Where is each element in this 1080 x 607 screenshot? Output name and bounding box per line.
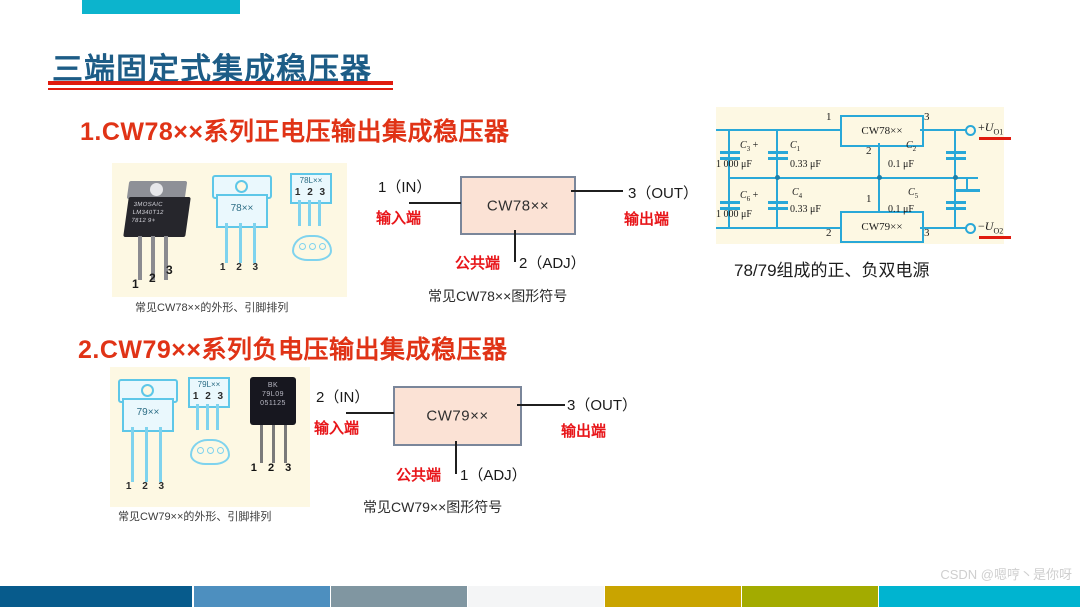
cw78-term-out-label: 输出端 [624,208,669,229]
title-underline-thin [48,88,393,90]
black-part-pins: 1 2 3 [250,462,296,474]
circuit-c2-plate-top [946,151,966,154]
cw79-term-in-label: 输入端 [314,417,359,438]
cw78-photo-caption: 常见CW78××的外形、引脚排列 [135,299,288,315]
csdn-watermark: CSDN @嗯哼丶是你呀 [940,564,1072,583]
to220-outline-pins: 1 2 3 [217,262,265,273]
circuit-cw78-pin-in: 1 [826,111,832,123]
cw78-term-in-label: 输入端 [376,207,421,228]
bottom-color-bars [0,586,1080,607]
circuit-c3-value: 1 000 μF [716,159,752,170]
black-part-body: BK79L09051125 [250,377,296,425]
circuit-c6-plate-top [720,201,740,204]
circuit-node-left [775,175,780,180]
to220-outline-hole [235,180,248,193]
circuit-cw79-pin-in: 2 [826,227,832,239]
cw78-package-photo-panel: 3MOSAICLM340T127812 9+ 1 2 3 78×× 1 2 3 … [112,163,347,297]
cw79-input-wire [346,412,394,414]
cw78-pin-in-label: 1（IN） [378,176,431,197]
to220-outline-body: 78×× [216,194,268,228]
to92-bottom-pin-1 [197,447,204,454]
cw78-pin-adj-label: 2（ADJ） [519,252,586,273]
black-part-lead-1 [260,425,263,463]
to220-mount-hole [150,183,163,196]
to220-outline-lead-1 [131,427,134,482]
circuit-ic-cw78-label: CW78×× [842,125,922,137]
to220-photo-pin-1: 1 [132,277,139,291]
circuit-c2-plate-bottom [946,157,966,160]
to220-outline-body: 79×× [122,398,174,432]
to92-outline-pins: 1 2 3 [292,187,330,198]
cw79-symbol-caption: 常见CW79××图形符号 [363,497,502,517]
to92-bottom-pin-3 [319,243,326,250]
to220-outline-lead-1 [225,223,228,263]
to92-bottom-pin-2 [207,447,214,454]
to92-bottom-pin-2 [309,243,316,250]
to220-lead-1 [138,236,142,280]
cw79-term-common-label: 公共端 [396,464,441,485]
circuit-c4-value: 0.33 μF [790,204,821,215]
circuit-node-center [877,175,882,180]
bar-slate [331,586,467,607]
title-underline-thick [48,81,393,85]
circuit-top-input-rail [716,129,840,131]
bar-white [468,586,604,607]
circuit-ic-cw79-label: CW79×× [842,221,922,233]
circuit-c2-ref: C2 [906,140,916,153]
to220-outline-lead-3 [159,427,162,482]
to92-lead-3 [216,404,219,430]
to92-lead-1 [298,200,301,226]
circuit-c1-value: 0.33 μF [790,159,821,170]
to92-lead-1 [196,404,199,430]
cw78-pin-out-label: 3（OUT） [628,182,698,203]
cw79-pin-out-label: 3（OUT） [567,394,637,415]
circuit-c2-branch [954,129,956,179]
to92-outline-label: 78L×× [292,176,330,185]
top-accent-bar [82,0,240,14]
circuit-left-branch-upper [728,129,730,179]
to92-bottom-pin-1 [299,243,306,250]
circuit-c3-plate-top [720,151,740,154]
to92-outline-pins: 1 2 3 [190,391,228,402]
to92-bottom-view [292,235,332,261]
to92-lead-2 [308,200,311,226]
dual-supply-circuit-diagram: CW78×× CW79×× 1 3 2 2 3 1 C3 + 1 000 μF … [716,107,1004,244]
cw79-photo-caption: 常见CW79××的外形、引脚排列 [118,508,271,524]
to220-outline-label: 78×× [218,203,266,214]
circuit-c5-plate-bottom [946,207,966,210]
circuit-cw78-pin-adj: 2 [866,145,872,157]
to220-outline-lead-2 [239,223,242,263]
to220-outline-pins: 1 2 3 [123,481,171,492]
cw78-symbol-box: CW78×× [460,176,576,235]
cw79-package-photo-panel: 79×× 1 2 3 79L×× 1 2 3 BK79L09051125 1 2… [110,367,310,507]
circuit-c6-value: 1 000 μF [716,209,752,220]
circuit-ic79-adj-wire [878,177,880,211]
cw79-term-out-label: 输出端 [561,420,606,441]
to220-marking-text: 3MOSAICLM340T127812 9+ [131,201,165,225]
black-part-marking: BK79L09051125 [250,381,296,408]
circuit-cw78-pin-out: 3 [924,111,930,123]
cw79-pin-adj-label: 1（ADJ） [460,464,527,485]
circuit-c1-plate-top [768,151,788,154]
to92-outline-label: 79L×× [190,380,228,389]
circuit-c4-ref: C4 [792,187,802,200]
cw79-symbol-device-label: CW79×× [395,408,520,425]
circuit-c5-plate-top [946,201,966,204]
bar-olive [742,586,878,607]
bar-cyan [879,586,1080,607]
section-1-heading: 1.CW78××系列正电压输出集成稳压器 [80,112,510,148]
circuit-caption: 78/79组成的正、负双电源 [734,256,930,281]
to220-plastic-body: 3MOSAICLM340T127812 9+ [123,197,191,237]
section-2-heading: 2.CW79××系列负电压输出集成稳压器 [78,330,508,366]
circuit-output-underline-positive [979,137,1011,140]
to92-outline-body: 78L×× 1 2 3 [290,173,332,204]
circuit-top-output-rail [920,129,968,131]
circuit-output-underline-negative [979,236,1011,239]
circuit-ic-cw79: CW79×× [840,211,924,243]
circuit-ground-plate [954,189,980,192]
to92-lead-3 [318,200,321,226]
to220-outline-label: 79×× [124,407,172,418]
cw78-term-common-label: 公共端 [455,252,500,273]
circuit-bottom-input-rail [716,227,840,229]
to220-photo-pin-3: 3 [166,263,173,277]
black-part-lead-3 [284,425,287,463]
circuit-c3-ref: C3 + [740,140,758,153]
circuit-c5-ref: C5 [908,187,918,200]
circuit-ground-rail [728,177,956,179]
circuit-cw79-pin-adj: 1 [866,193,872,205]
black-part-lead-2 [272,425,275,463]
to220-outline-hole [141,384,154,397]
circuit-c4-plate-top [768,201,788,204]
cw78-symbol-device-label: CW78×× [462,197,574,214]
bar-dark-blue [0,586,192,607]
circuit-c5-value: 0.1 μF [888,204,914,215]
cw78-output-wire [571,190,623,192]
circuit-c1-plate-bottom [768,157,788,160]
circuit-output-label-negative: −UO2 [978,219,1003,235]
cw78-symbol-caption: 常见CW78××图形符号 [428,286,567,306]
circuit-output-terminal-negative [965,223,976,234]
to220-outline-lead-3 [253,223,256,263]
circuit-cw79-pin-out: 3 [924,227,930,239]
circuit-ic78-adj-wire [878,143,880,178]
circuit-c1-ref: C1 [790,140,800,153]
to92-bottom-pin-3 [217,447,224,454]
to92-lead-2 [206,404,209,430]
circuit-c2-value: 0.1 μF [888,159,914,170]
circuit-output-label-positive: +UO1 [978,120,1003,136]
to92-outline-body: 79L×× 1 2 3 [188,377,230,408]
to92-bottom-view [190,439,230,465]
bar-mid-blue [194,586,330,607]
circuit-node-right [953,175,958,180]
cw79-pin-in-label: 2（IN） [316,386,369,407]
cw78-adj-wire [514,230,516,262]
cw79-adj-wire [455,441,457,474]
circuit-output-terminal-positive [965,125,976,136]
circuit-c6-ref: C6 + [740,190,758,203]
cw79-symbol-box: CW79×× [393,386,522,446]
to220-photo-pin-2: 2 [149,271,156,285]
to220-outline-lead-2 [145,427,148,482]
circuit-c4-plate-bottom [768,207,788,210]
cw78-input-wire [409,202,461,204]
cw79-output-wire [517,404,565,406]
bar-gold [605,586,741,607]
circuit-c1-branch [776,129,778,179]
